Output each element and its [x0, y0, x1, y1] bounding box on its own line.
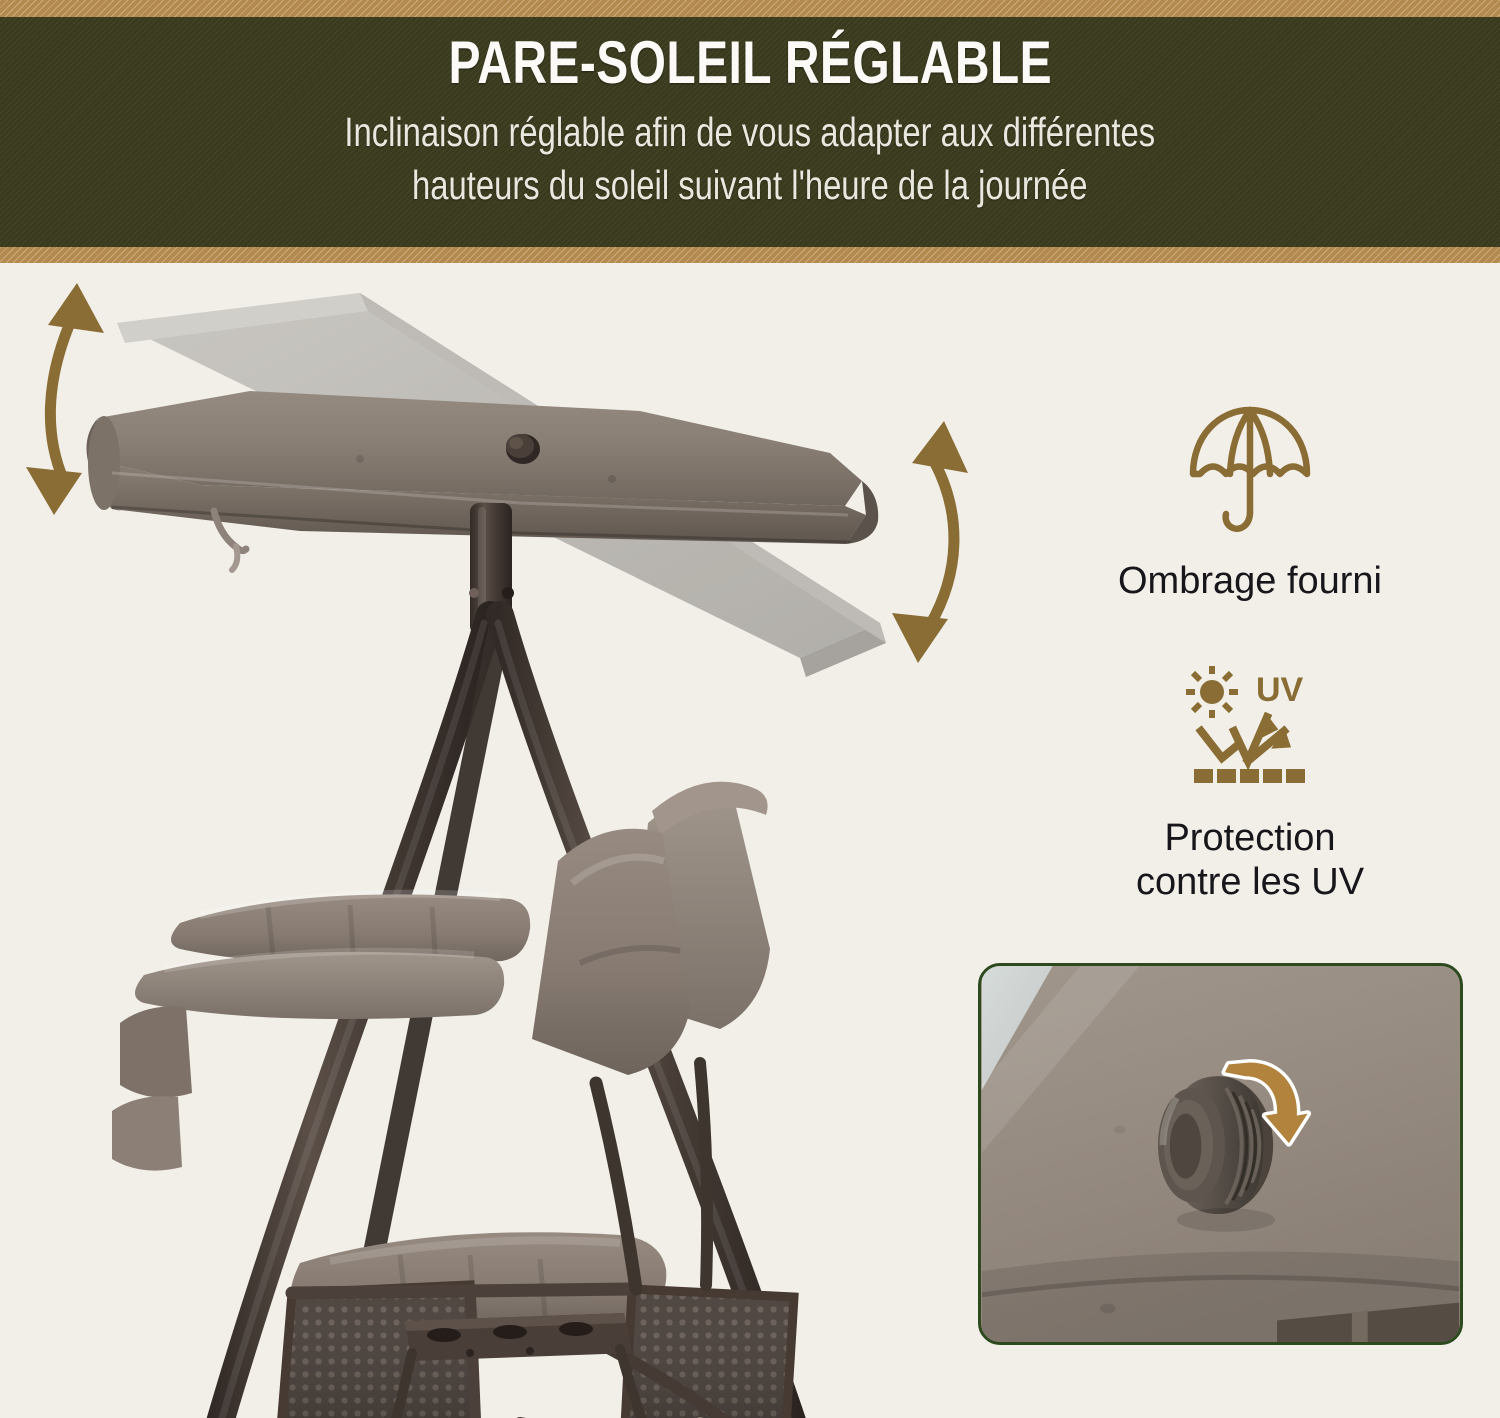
- cup-holder-2: [493, 1325, 527, 1339]
- feature-ombrage: Ombrage fourni: [1000, 400, 1500, 603]
- uv-icon-text: UV: [1256, 671, 1304, 709]
- perforated-side-panel-right: [622, 1289, 794, 1418]
- page-subtitle-line-2: hauteurs du soleil suivant l'heure de la…: [345, 159, 1156, 212]
- tilt-arrow-right: [892, 421, 968, 663]
- page-title: PARE-SOLEIL RÉGLABLE: [448, 31, 1052, 94]
- feature-uv: UV: [1000, 665, 1500, 904]
- header-banner: PARE-SOLEIL RÉGLABLE Inclinaison réglabl…: [0, 0, 1500, 263]
- page-subtitle-line-1: Inclinaison réglable afin de vous adapte…: [345, 106, 1156, 159]
- canopy-adjust-knob: [506, 434, 540, 464]
- product-image-stage: [0, 263, 1000, 1418]
- page-subtitle: Inclinaison réglable afin de vous adapte…: [345, 106, 1156, 213]
- cup-holder-1: [427, 1328, 461, 1342]
- uv-protection-icon: UV: [1170, 665, 1330, 802]
- umbrella-icon: [1185, 400, 1315, 545]
- feature-list: Ombrage fourni: [1000, 280, 1500, 970]
- feature-uv-label: Protection contre les UV: [1136, 816, 1364, 904]
- feature-ombrage-label: Ombrage fourni: [1118, 559, 1382, 603]
- cup-holder-3: [559, 1322, 593, 1336]
- detail-inset-photo: [978, 963, 1463, 1345]
